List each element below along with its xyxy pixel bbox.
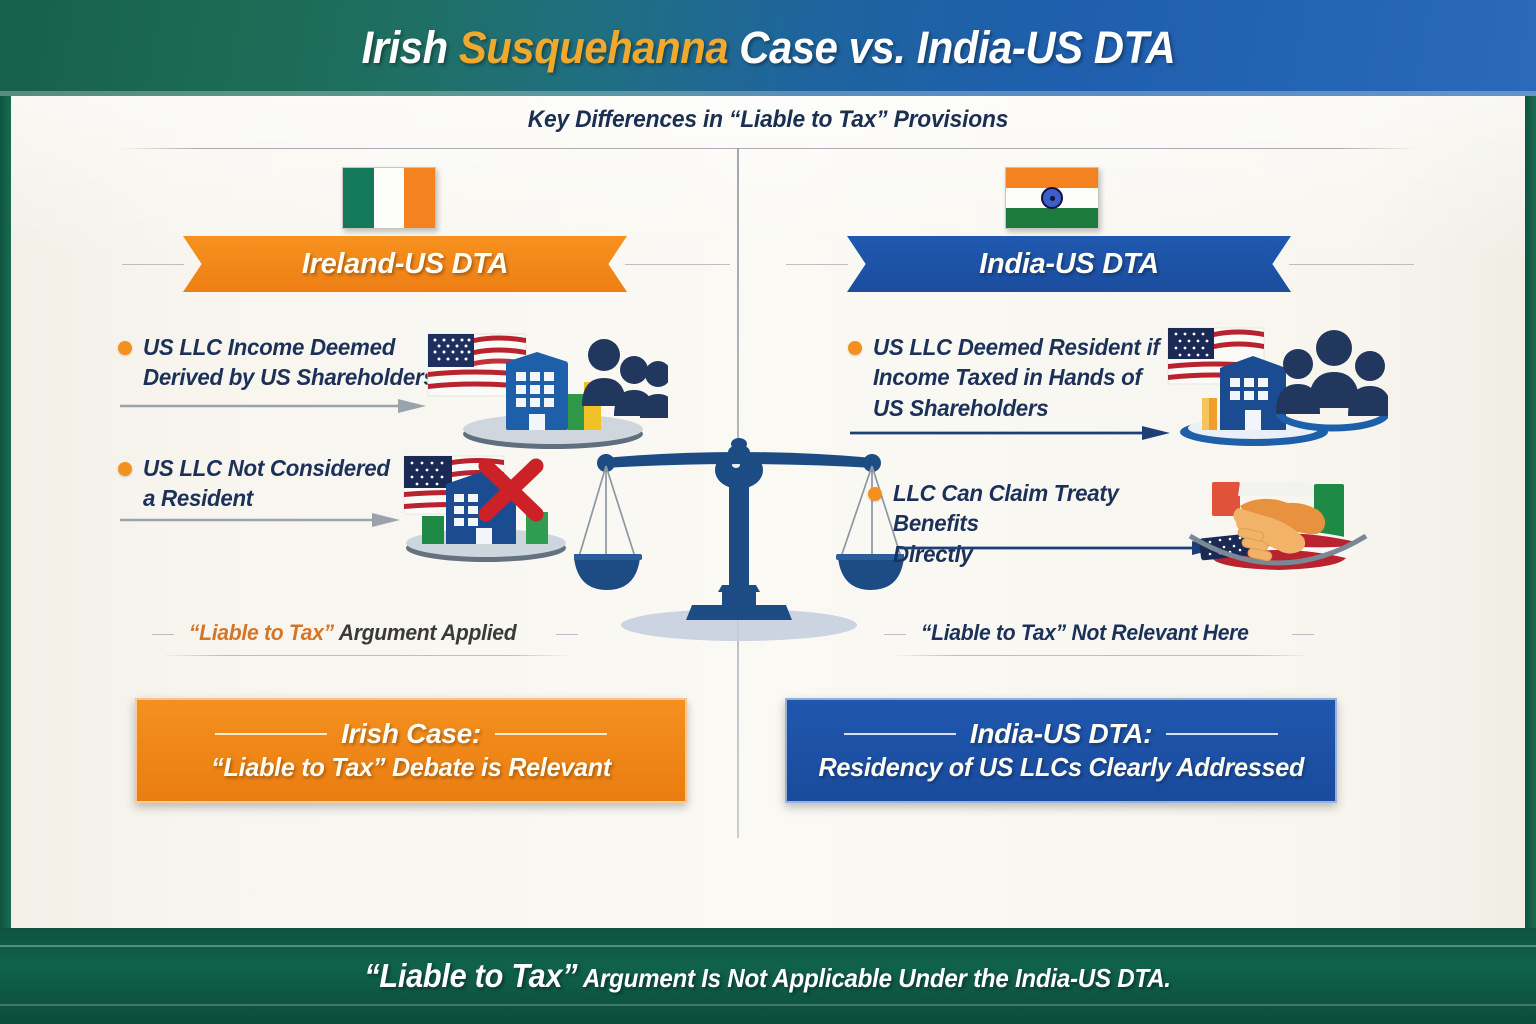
right-mid-rest: Not Relevant Here — [1066, 620, 1249, 645]
india-dta-summary-subtitle: Residency of US LLCs Clearly Addressed — [818, 752, 1304, 783]
left-bullet-1-arrow-icon — [120, 398, 426, 412]
bullet-dot-icon — [848, 341, 862, 355]
footer-conclusion: “Liable to Tax” Argument Is Not Applicab… — [365, 957, 1171, 995]
ireland-flag-icon — [342, 167, 436, 229]
right-mid-dash-end — [1292, 634, 1314, 635]
right-bullet-1-line-2: Income Taxed in Hands of — [873, 362, 1160, 392]
india-dta-summary-title: India-US DTA: — [970, 718, 1152, 750]
left-mid-dash-start — [152, 634, 174, 635]
right-bullet-2-arrow-icon — [900, 540, 1220, 554]
left-bullet-1-line-1: US LLC Income Deemed — [143, 332, 436, 362]
india-us-dta-banner: India-US DTA — [847, 236, 1291, 292]
left-bullet-2-line-1: US LLC Not Considered — [143, 453, 390, 483]
title-part1: Irish — [361, 22, 458, 73]
left-mid-quote: “Liable to Tax” — [189, 620, 334, 645]
ribbon-tail-right-inner — [786, 264, 848, 265]
bullet-dot-icon — [118, 462, 132, 476]
ireland-banner-label: Ireland-US DTA — [302, 248, 508, 281]
ribbon-tail-right-outer — [1289, 264, 1414, 265]
ireland-us-dta-banner: Ireland-US DTA — [183, 236, 627, 292]
right-bullet-1-line-3: US Shareholders — [873, 393, 1160, 423]
india-flag-icon — [1005, 167, 1099, 229]
footer-bar: “Liable to Tax” Argument Is Not Applicab… — [0, 928, 1536, 1024]
summary-rule-left — [844, 733, 956, 735]
irish-case-summary-box: Irish Case: “Liable to Tax” Debate is Re… — [135, 698, 687, 803]
left-liable-to-tax-label: “Liable to Tax” Argument Applied — [189, 620, 517, 646]
page-title: Irish Susquehanna Case vs. India-US DTA — [361, 22, 1175, 74]
right-mid-quote: “Liable to Tax” — [921, 620, 1066, 645]
left-bullet-1: US LLC Income Deemed Derived by US Share… — [118, 332, 448, 393]
top-divider-rule — [118, 148, 1418, 149]
india-dta-summary-box: India-US DTA: Residency of US LLCs Clear… — [785, 698, 1337, 803]
footer-rest: Argument Is Not Applicable Under the Ind… — [578, 963, 1171, 993]
title-accent: Susquehanna — [458, 22, 727, 73]
irish-case-summary-subtitle: “Liable to Tax” Debate is Relevant — [211, 752, 611, 783]
right-bullet-1-line-1: US LLC Deemed Resident if — [873, 332, 1160, 362]
left-bullet-2-arrow-icon — [120, 512, 400, 526]
right-mid-underline — [892, 655, 1312, 656]
right-border-strip — [1525, 96, 1536, 928]
subtitle: Key Differences in “Liable to Tax” Provi… — [38, 106, 1497, 134]
bullet-dot-icon — [118, 341, 132, 355]
ashoka-chakra-icon — [1041, 187, 1063, 209]
ribbon-tail-left-outer — [122, 264, 184, 265]
summary-rule-right — [495, 733, 607, 735]
us-flag-building-shareholders-ring-icon — [1158, 322, 1388, 450]
right-bullet-2-line-1: LLC Can Claim Treaty Benefits — [893, 478, 1208, 539]
left-border-strip — [0, 96, 11, 928]
right-liable-to-tax-label: “Liable to Tax” Not Relevant Here — [921, 620, 1249, 646]
left-bullet-1-line-2: Derived by US Shareholders — [143, 362, 436, 392]
right-bullet-1-arrow-icon — [850, 425, 1170, 439]
summary-rule-left — [215, 733, 327, 735]
right-mid-dash-start — [884, 634, 906, 635]
handshake-india-us-icon — [1178, 478, 1378, 590]
infographic-canvas: Irish Susquehanna Case vs. India-US DTA … — [0, 0, 1536, 1024]
left-mid-rest: Argument Applied — [334, 620, 516, 645]
india-banner-label: India-US DTA — [979, 248, 1159, 281]
footer-quote: “Liable to Tax” — [365, 957, 578, 994]
us-flag-building-red-x-icon — [390, 450, 580, 565]
left-bullet-2-line-2: a Resident — [143, 483, 390, 513]
title-part2: Case vs. India-US DTA — [728, 22, 1175, 73]
bullet-dot-icon — [868, 487, 882, 501]
balance-scale-icon — [574, 420, 904, 660]
right-bullet-1: US LLC Deemed Resident if Income Taxed i… — [848, 332, 1178, 423]
irish-case-summary-title: Irish Case: — [341, 718, 481, 750]
left-mid-underline — [160, 655, 570, 656]
summary-rule-right — [1166, 733, 1278, 735]
ribbon-tail-left-inner — [625, 264, 730, 265]
header-bar: Irish Susquehanna Case vs. India-US DTA — [0, 0, 1536, 96]
